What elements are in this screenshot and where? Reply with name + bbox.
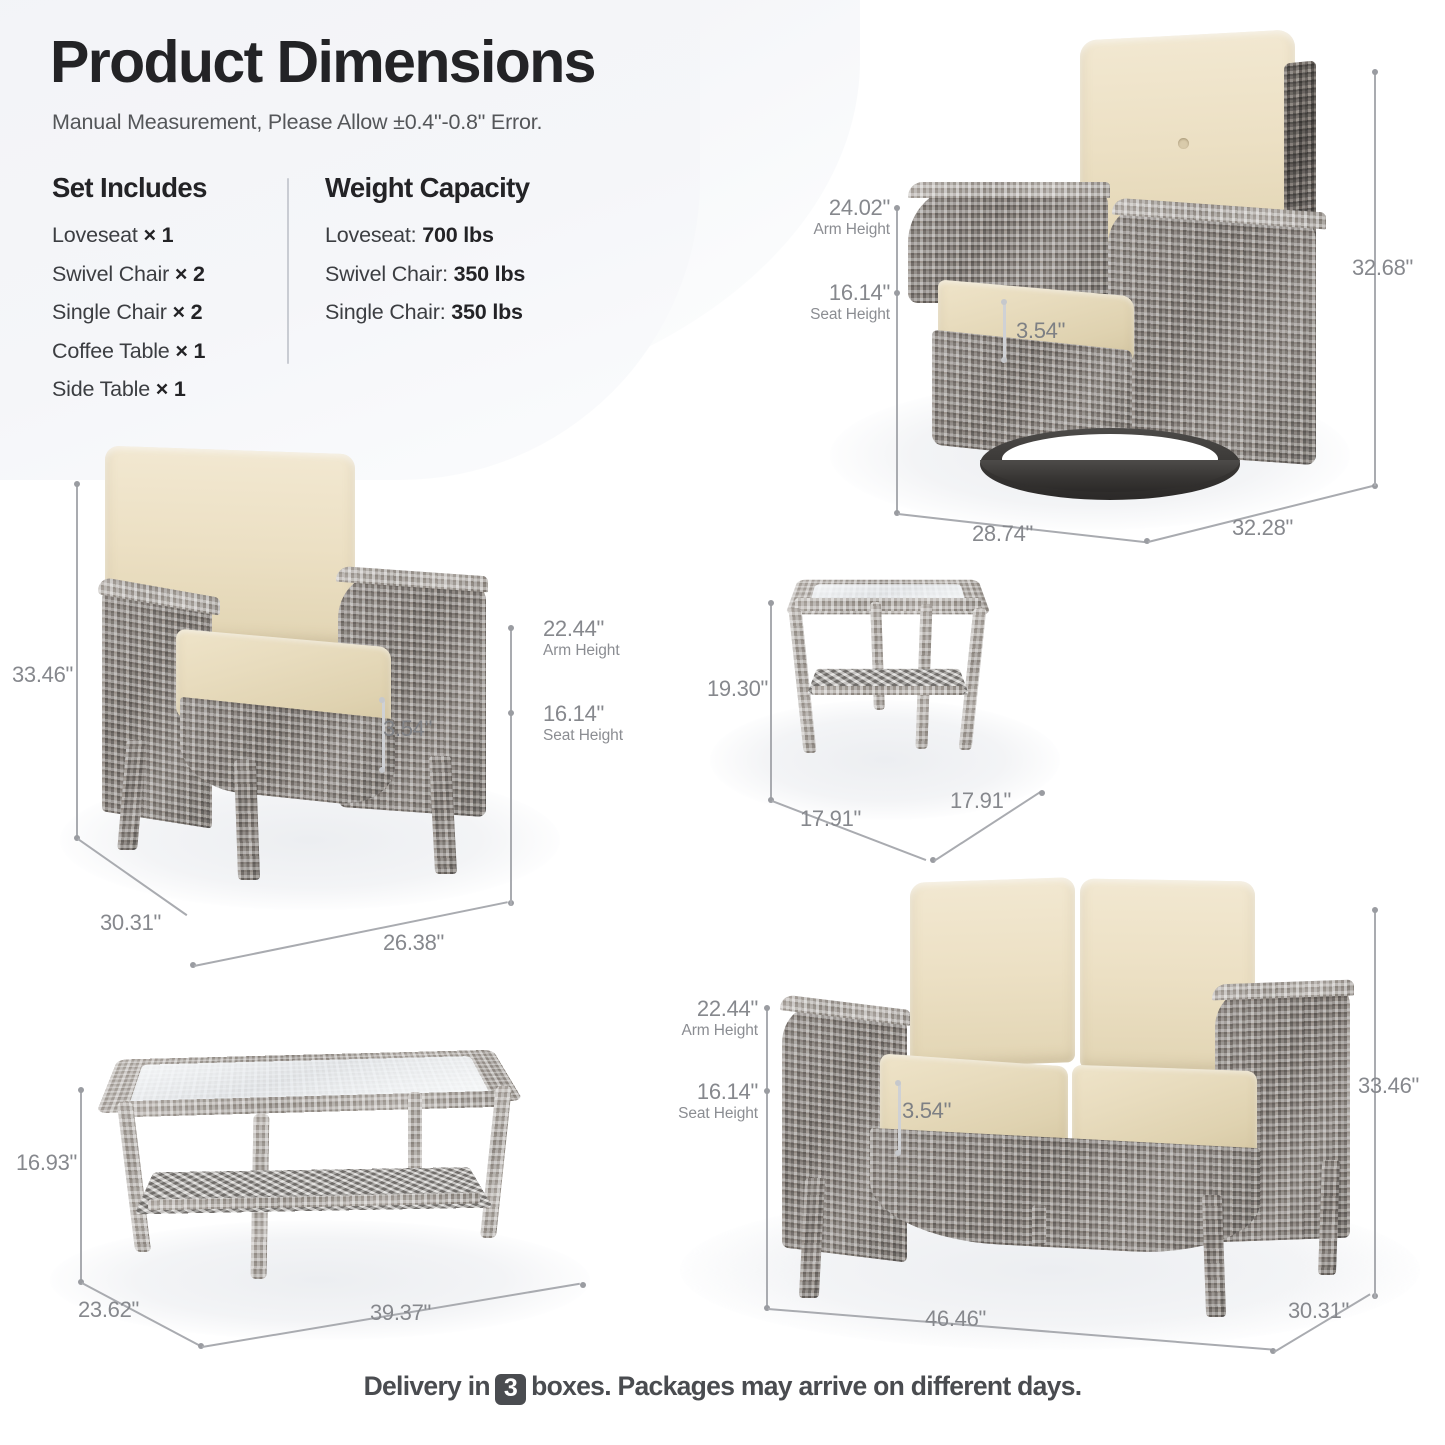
footer-suffix: boxes. Packages may arrive on different … <box>531 1371 1081 1401</box>
swivel-chair-total-height-value: 32.68" <box>1352 255 1413 281</box>
weight-capacity-column: Weight Capacity Loveseat: 700 lbs Swivel… <box>289 172 529 416</box>
weight-capacity-item: Loveseat: 700 lbs <box>325 223 529 248</box>
single-chair-right-guide-line <box>510 628 512 906</box>
single-chair-depth-value: 30.31" <box>100 910 161 936</box>
single-chair-arm-height-caption: Arm Height <box>543 641 620 661</box>
single-chair-arm-height-label: 22.44" Arm Height <box>543 617 620 661</box>
side-table-depth-value: 17.91" <box>950 788 1011 814</box>
loveseat-front-skirt <box>870 1128 1260 1258</box>
weight-capacity-heading: Weight Capacity <box>325 172 529 204</box>
loveseat-back-cushion-left <box>910 877 1075 1068</box>
loveseat-total-height-value: 33.46" <box>1358 1073 1419 1099</box>
coffee-table-width-value: 39.37" <box>370 1300 431 1326</box>
page-subtitle: Manual Measurement, Please Allow ±0.4"-0… <box>52 110 542 135</box>
weight-capacity-item-value: 350 lbs <box>451 300 523 324</box>
weight-capacity-item-value: 700 lbs <box>422 223 494 247</box>
set-includes-item-qty: × 2 <box>173 300 203 324</box>
swivel-chair-height-guide-line <box>896 208 898 513</box>
single-chair-seat-height-label: 16.14" Seat Height <box>543 702 623 746</box>
side-table-width-value: 17.91" <box>800 806 861 832</box>
loveseat-depth-value: 30.31" <box>1288 1298 1349 1324</box>
loveseat-total-height-top-dot <box>1372 907 1378 913</box>
set-includes-item-qty: × 1 <box>175 339 205 363</box>
single-chair-cushion-thickness-value: 3.54" <box>383 716 432 742</box>
loveseat-arm-height-dot <box>764 1005 770 1011</box>
set-includes-item-qty: × 1 <box>156 377 186 401</box>
coffee-table-width-right-dot <box>580 1282 586 1288</box>
page-title: Product Dimensions <box>50 32 595 94</box>
swivel-chair-cushion-thickness-value: 3.54" <box>1016 318 1065 344</box>
side-table-lower-shelf-edge <box>812 686 964 695</box>
weight-capacity-item-name: Single Chair: <box>325 300 446 324</box>
swivel-chair-arm-height-dot <box>894 205 900 211</box>
footer-prefix: Delivery in <box>364 1371 490 1401</box>
weight-capacity-item-name: Swivel Chair: <box>325 262 448 286</box>
side-table-height-top-dot <box>768 600 774 606</box>
loveseat-width-value: 46.46" <box>925 1306 986 1332</box>
set-includes-heading: Set Includes <box>52 172 287 204</box>
single-chair-width-value: 26.38" <box>383 930 444 956</box>
side-table-height-value: 19.30" <box>707 676 768 702</box>
swivel-chair-illustration <box>860 10 1380 540</box>
coffee-table-height-value: 16.93" <box>16 1150 77 1176</box>
swivel-chair-arm-height-value: 24.02" <box>800 196 890 220</box>
loveseat-front-right-leg <box>1202 1195 1226 1317</box>
loveseat-total-height-line <box>1374 910 1376 1298</box>
loveseat-arm-height-caption: Arm Height <box>668 1021 758 1041</box>
side-table-illustration <box>770 560 1020 810</box>
single-chair-seat-height-caption: Seat Height <box>543 726 623 746</box>
spec-columns: Set Includes Loveseat × 1 Swivel Chair ×… <box>52 172 529 416</box>
single-chair-illustration <box>80 440 550 900</box>
weight-capacity-item: Single Chair: 350 lbs <box>325 300 529 325</box>
swivel-chair-seat-height-value: 16.14" <box>800 281 890 305</box>
loveseat-cushion-thickness-value: 3.54" <box>902 1098 951 1124</box>
infographic-canvas: Product Dimensions Manual Measurement, P… <box>0 0 1445 1445</box>
loveseat-seat-height-dot <box>764 1088 770 1094</box>
swivel-chair-right-arm <box>1108 201 1316 466</box>
set-includes-item-qty: × 1 <box>143 223 173 247</box>
coffee-table-leg-front-right <box>480 1086 512 1238</box>
single-chair-seat-height-dot <box>508 710 514 716</box>
swivel-chair-cushion-thickness-bottom-dot <box>1001 357 1007 363</box>
swivel-chair-arm-height-caption: Arm Height <box>800 220 890 240</box>
side-table-height-line <box>770 603 772 800</box>
loveseat-cushion-thickness-bottom-dot <box>895 1150 901 1156</box>
coffee-table-leg-front-left <box>117 1102 151 1252</box>
set-includes-item-name: Side Table <box>52 377 150 401</box>
coffee-table-height-top-dot <box>78 1087 84 1093</box>
single-chair-arm-height-dot <box>508 625 514 631</box>
swivel-chair-cushion-thickness-top-dot <box>1001 299 1007 305</box>
single-chair-total-height-top-dot <box>74 481 80 487</box>
loveseat-seat-height-label: 16.14" Seat Height <box>668 1080 758 1124</box>
set-includes-item-qty: × 2 <box>175 262 205 286</box>
single-chair-cushion-thickness-bottom-dot <box>379 767 385 773</box>
set-includes-item: Swivel Chair × 2 <box>52 262 287 287</box>
coffee-table-illustration <box>90 1020 560 1310</box>
loveseat-cushion-thickness-top-dot <box>895 1080 901 1086</box>
side-table-depth-right-dot <box>1039 790 1045 796</box>
loveseat-center-leg <box>1032 1205 1046 1245</box>
single-chair-width-dim-line <box>194 901 508 966</box>
weight-capacity-item-value: 350 lbs <box>454 262 526 286</box>
swivel-chair-total-height-top-dot <box>1372 69 1378 75</box>
swivel-chair-arm-height-label: 24.02" Arm Height <box>800 196 890 240</box>
single-chair-front-center-leg <box>234 760 260 880</box>
weight-capacity-item-name: Loveseat: <box>325 223 416 247</box>
loveseat-arm-height-value: 22.44" <box>668 997 758 1021</box>
set-includes-item-name: Single Chair <box>52 300 167 324</box>
set-includes-item: Side Table × 1 <box>52 377 287 402</box>
loveseat-left-guide-line <box>766 1008 768 1308</box>
loveseat-back-right-leg <box>1318 1160 1340 1275</box>
swivel-chair-left-arm-top <box>908 182 1110 198</box>
set-includes-item: Single Chair × 2 <box>52 300 287 325</box>
set-includes-column: Set Includes Loveseat × 1 Swivel Chair ×… <box>52 172 287 416</box>
swivel-chair-width-value: 28.74" <box>972 521 1033 547</box>
swivel-chair-seat-height-caption: Seat Height <box>800 305 890 325</box>
footer-box-count-badge: 3 <box>495 1374 526 1405</box>
loveseat-cushion-thickness-line <box>898 1083 901 1155</box>
set-includes-item-name: Coffee Table <box>52 339 170 363</box>
weight-capacity-item: Swivel Chair: 350 lbs <box>325 262 529 287</box>
coffee-table-height-line <box>80 1090 82 1282</box>
single-chair-arm-height-value: 22.44" <box>543 617 620 641</box>
set-includes-item: Loveseat × 1 <box>52 223 287 248</box>
single-chair-seat-height-value: 16.14" <box>543 702 623 726</box>
single-chair-cushion-thickness-top-dot <box>379 697 385 703</box>
swivel-chair-seat-height-label: 16.14" Seat Height <box>800 281 890 325</box>
loveseat-seat-height-value: 16.14" <box>668 1080 758 1104</box>
set-includes-item: Coffee Table × 1 <box>52 339 287 364</box>
loveseat-seat-height-caption: Seat Height <box>668 1104 758 1124</box>
side-table-top-edge <box>795 598 981 611</box>
footer-delivery-note: Delivery in3boxes. Packages may arrive o… <box>0 1371 1445 1405</box>
set-includes-item-name: Loveseat <box>52 223 138 247</box>
swivel-chair-back-cushion-button <box>1178 138 1189 149</box>
swivel-chair-depth-value: 32.28" <box>1232 515 1293 541</box>
loveseat-illustration <box>760 860 1360 1330</box>
set-includes-item-name: Swivel Chair <box>52 262 169 286</box>
coffee-table-depth-value: 23.62" <box>78 1297 139 1323</box>
single-chair-total-height-value: 33.46" <box>12 662 73 688</box>
swivel-chair-cushion-thickness-line <box>1003 302 1006 362</box>
loveseat-arm-height-label: 22.44" Arm Height <box>668 997 758 1041</box>
single-chair-total-height-line <box>76 484 78 838</box>
swivel-chair-seat-height-dot <box>894 290 900 296</box>
